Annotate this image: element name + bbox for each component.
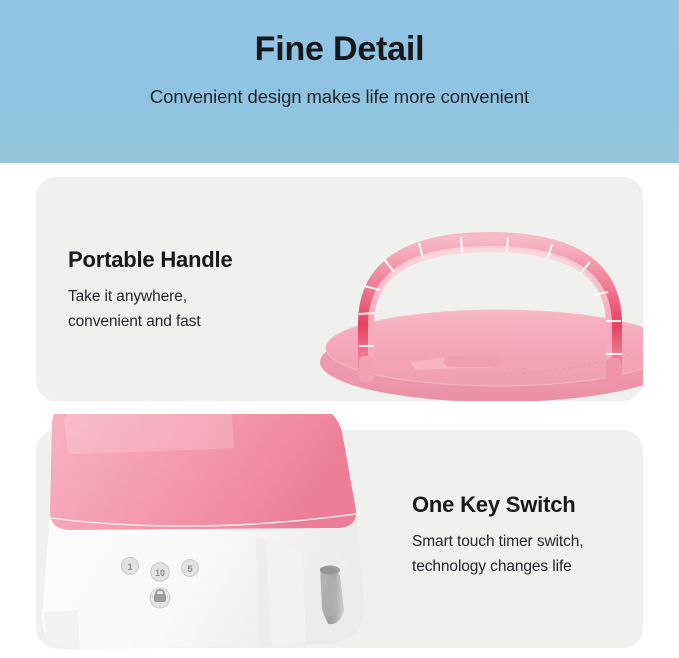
portable-handle-text-block: Portable Handle Take it anywhere, conven… bbox=[68, 247, 232, 335]
timer-indicator-10[interactable]: 10 bbox=[151, 563, 169, 581]
card-edge-mask-left-bottom bbox=[0, 400, 36, 653]
timer-indicator-5[interactable]: 5 bbox=[182, 560, 199, 577]
one-key-switch-text-block: One Key Switch Smart touch timer switch,… bbox=[412, 492, 584, 580]
portable-handle-body: Take it anywhere, convenient and fast bbox=[68, 284, 232, 334]
product-image-washing-machine: 1 10 5 bbox=[34, 414, 384, 653]
card-edge-mask-top-right bbox=[643, 177, 679, 401]
header-banner: Fine Detail Convenient design makes life… bbox=[0, 0, 679, 163]
svg-text:1: 1 bbox=[127, 562, 133, 573]
lid-with-handle-illustration bbox=[318, 196, 663, 406]
svg-text:5: 5 bbox=[187, 564, 193, 575]
card-edge-mask-gap bbox=[0, 401, 679, 414]
washing-machine-illustration: 1 10 5 bbox=[34, 414, 384, 653]
one-key-switch-heading: One Key Switch bbox=[412, 492, 584, 517]
svg-text:10: 10 bbox=[155, 568, 165, 578]
page-title: Fine Detail bbox=[255, 32, 425, 68]
page-subtitle: Convenient design makes life more conven… bbox=[150, 86, 529, 108]
timer-indicator-1[interactable]: 1 bbox=[121, 557, 138, 574]
one-key-switch-body: Smart touch timer switch, technology cha… bbox=[412, 529, 584, 579]
product-image-portable-handle bbox=[318, 196, 663, 406]
portable-handle-heading: Portable Handle bbox=[68, 247, 232, 272]
power-button-icon[interactable] bbox=[150, 588, 170, 608]
